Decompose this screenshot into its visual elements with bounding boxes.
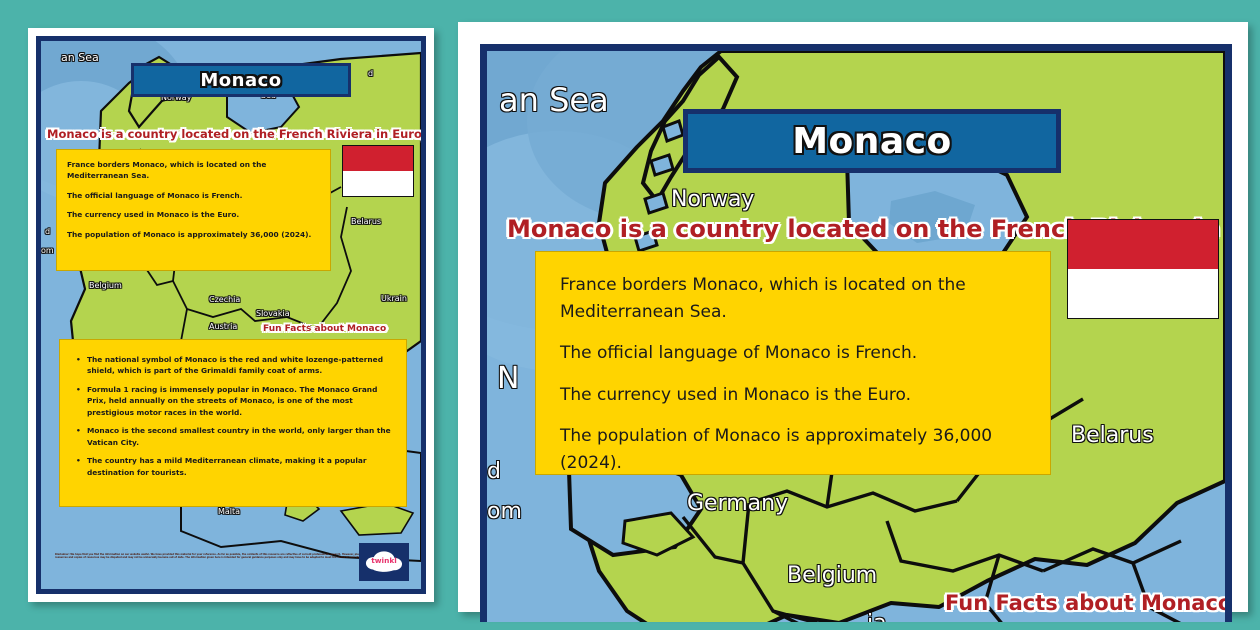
map-country-label: Slovakia — [256, 309, 290, 318]
info-paragraph: France borders Monaco, which is located … — [67, 159, 320, 182]
info-paragraph: The currency used in Monaco is the Euro. — [560, 382, 1026, 409]
info-paragraph: The population of Monaco is approximatel… — [67, 229, 320, 240]
disclaimer-text: Disclaimer: We hope that you find the in… — [55, 553, 385, 560]
monaco-flag — [342, 145, 414, 197]
info-box: France borders Monaco, which is located … — [56, 149, 331, 271]
twinkl-logo[interactable]: twinkl — [359, 543, 409, 581]
fun-facts-box: The national symbol of Monaco is the red… — [59, 339, 407, 507]
map-country-label: Malta — [218, 507, 240, 516]
thumbnail-card[interactable]: an SeaNorwaySeadNiaBelarusdomGermanyBelg… — [28, 28, 434, 602]
map-country-label: Austria — [209, 322, 237, 331]
flag-red-stripe — [1068, 220, 1218, 269]
info-paragraph: The official language of Monaco is Frenc… — [67, 190, 320, 201]
info-box: France borders Monaco, which is located … — [535, 251, 1051, 475]
map-country-label: Norway — [671, 187, 754, 212]
map-country-label: om — [487, 499, 522, 524]
map-country-label: N — [497, 361, 519, 396]
info-paragraph: The currency used in Monaco is the Euro. — [67, 209, 320, 220]
info-paragraph: France borders Monaco, which is located … — [560, 272, 1026, 326]
screenshot-stage: an SeaNorwaySeadNiaBelarusdomGermanyBelg… — [0, 0, 1260, 630]
info-paragraph: The official language of Monaco is Frenc… — [560, 340, 1026, 367]
map-country-label: an Sea — [499, 81, 609, 119]
map-country-label: Ukrain — [381, 294, 407, 303]
map-country-label: d — [45, 227, 50, 236]
map-country-label: d — [368, 69, 373, 78]
preview-card[interactable]: an SeaNorwaydNoniatniaBelarusdomGermanyB… — [458, 22, 1248, 612]
map-country-label: an Sea — [61, 51, 99, 64]
subtitle-text: Monaco is a country located on the Frenc… — [47, 127, 421, 141]
title-text: Monaco — [200, 70, 281, 91]
thumbnail-sheet: an SeaNorwaySeadNiaBelarusdomGermanyBelg… — [36, 36, 426, 594]
flag-white-stripe — [1068, 269, 1218, 318]
map-country-label: Belgium — [89, 281, 122, 290]
flag-white-stripe — [343, 171, 413, 196]
fun-facts-heading: Fun Facts about Monaco — [263, 324, 386, 334]
fun-facts-list: The national symbol of Monaco is the red… — [76, 354, 392, 478]
fun-fact-item: Monaco is the second smallest country in… — [76, 425, 392, 448]
monaco-flag — [1067, 219, 1219, 319]
map-country-label: Czechia — [209, 295, 240, 304]
fun-fact-item: The country has a mild Mediterranean cli… — [76, 455, 392, 478]
map-country-label: ia — [867, 611, 887, 622]
title-banner: Monaco — [131, 63, 351, 97]
fun-fact-item: The national symbol of Monaco is the red… — [76, 354, 392, 377]
map-country-label: Ukrain — [1135, 621, 1206, 622]
map-country-label: Belgium — [787, 563, 877, 588]
title-banner: Monaco — [683, 109, 1061, 173]
title-text: Monaco — [792, 121, 952, 162]
map-country-label: Germany — [687, 491, 788, 516]
twinkl-wordmark: twinkl — [366, 557, 402, 565]
map-country-label: d — [487, 459, 501, 484]
map-country-label: om — [41, 246, 54, 255]
preview-sheet: an SeaNorwaydNoniatniaBelarusdomGermanyB… — [480, 44, 1232, 622]
fun-facts-heading: Fun Facts about Monaco — [945, 591, 1225, 615]
preview-map: an SeaNorwaydNoniatniaBelarusdomGermanyB… — [487, 51, 1225, 622]
info-paragraph: The population of Monaco is approximatel… — [560, 423, 1026, 477]
flag-red-stripe — [343, 146, 413, 171]
cloud-icon: twinkl — [366, 551, 402, 572]
fun-fact-item: Formula 1 racing is immensely popular in… — [76, 384, 392, 418]
map-country-label: Belarus — [351, 217, 381, 226]
thumbnail-map: an SeaNorwaySeadNiaBelarusdomGermanyBelg… — [41, 41, 421, 589]
map-country-label: Belarus — [1071, 423, 1154, 448]
